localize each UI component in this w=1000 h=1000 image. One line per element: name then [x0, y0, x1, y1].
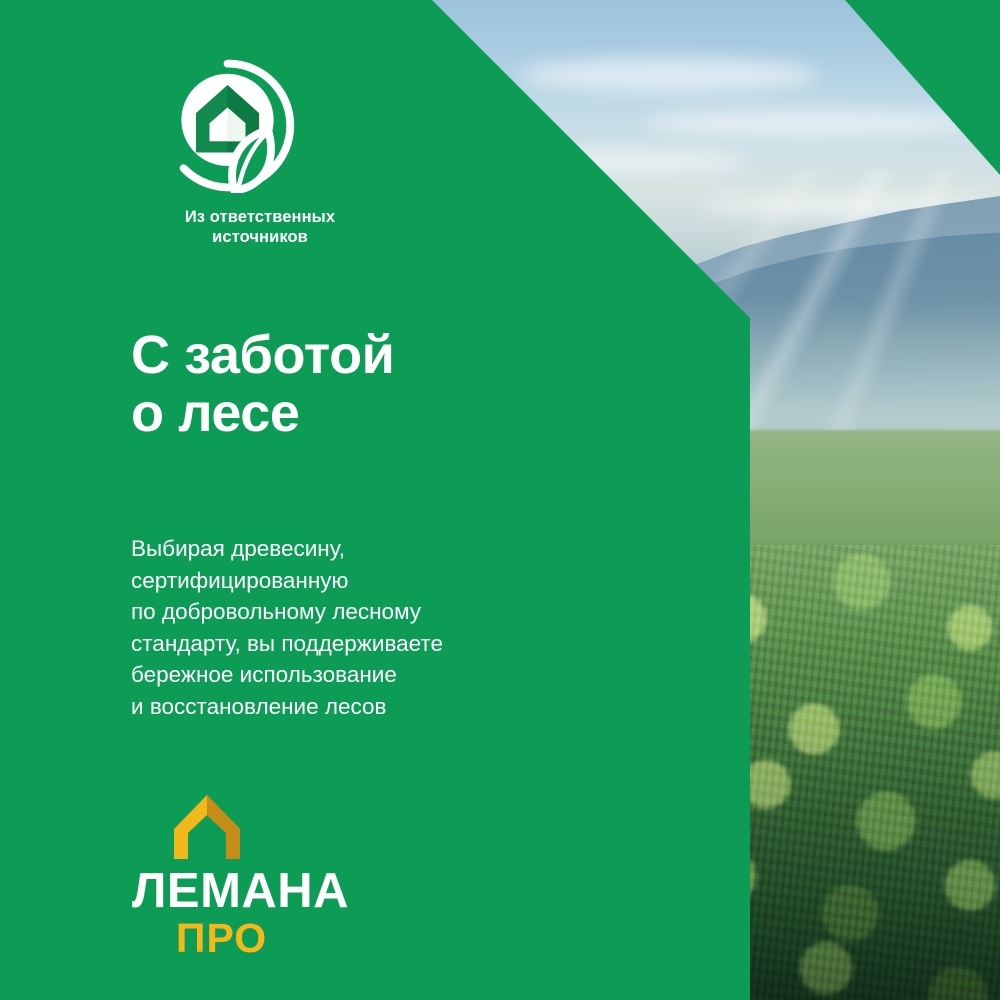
body-line-6: и восстановление лесов [131, 691, 691, 723]
certification-badge-caption: Из ответственных источников [130, 207, 390, 247]
lemana-house-icon [172, 793, 242, 861]
content-column: Из ответственных источников С заботой о … [0, 0, 750, 1000]
headline-line-1: С заботой [131, 327, 691, 385]
brand-lockup: ЛЕМАНА ПРО [132, 793, 472, 959]
brand-subname: ПРО [176, 918, 472, 959]
poster-body-text: Выбирая древесину, сертифицированную по … [131, 533, 691, 722]
poster-headline: С заботой о лесе [131, 327, 691, 443]
certification-badge: Из ответственных источников [130, 58, 430, 247]
body-line-2: сертифицированную [131, 565, 691, 597]
body-line-3: по добровольному лесному [131, 596, 691, 628]
badge-caption-line-2: источников [130, 227, 390, 247]
brand-name: ЛЕМАНА [132, 867, 472, 916]
body-line-5: бережное использование [131, 659, 691, 691]
body-line-1: Выбирая древесину, [131, 533, 691, 565]
body-line-4: стандарту, вы поддерживаете [131, 628, 691, 660]
headline-line-2: о лесе [131, 385, 691, 443]
badge-caption-line-1: Из ответственных [130, 207, 390, 227]
poster-canvas: Из ответственных источников С заботой о … [0, 0, 1000, 1000]
house-leaf-circle-logo-icon [160, 58, 295, 193]
